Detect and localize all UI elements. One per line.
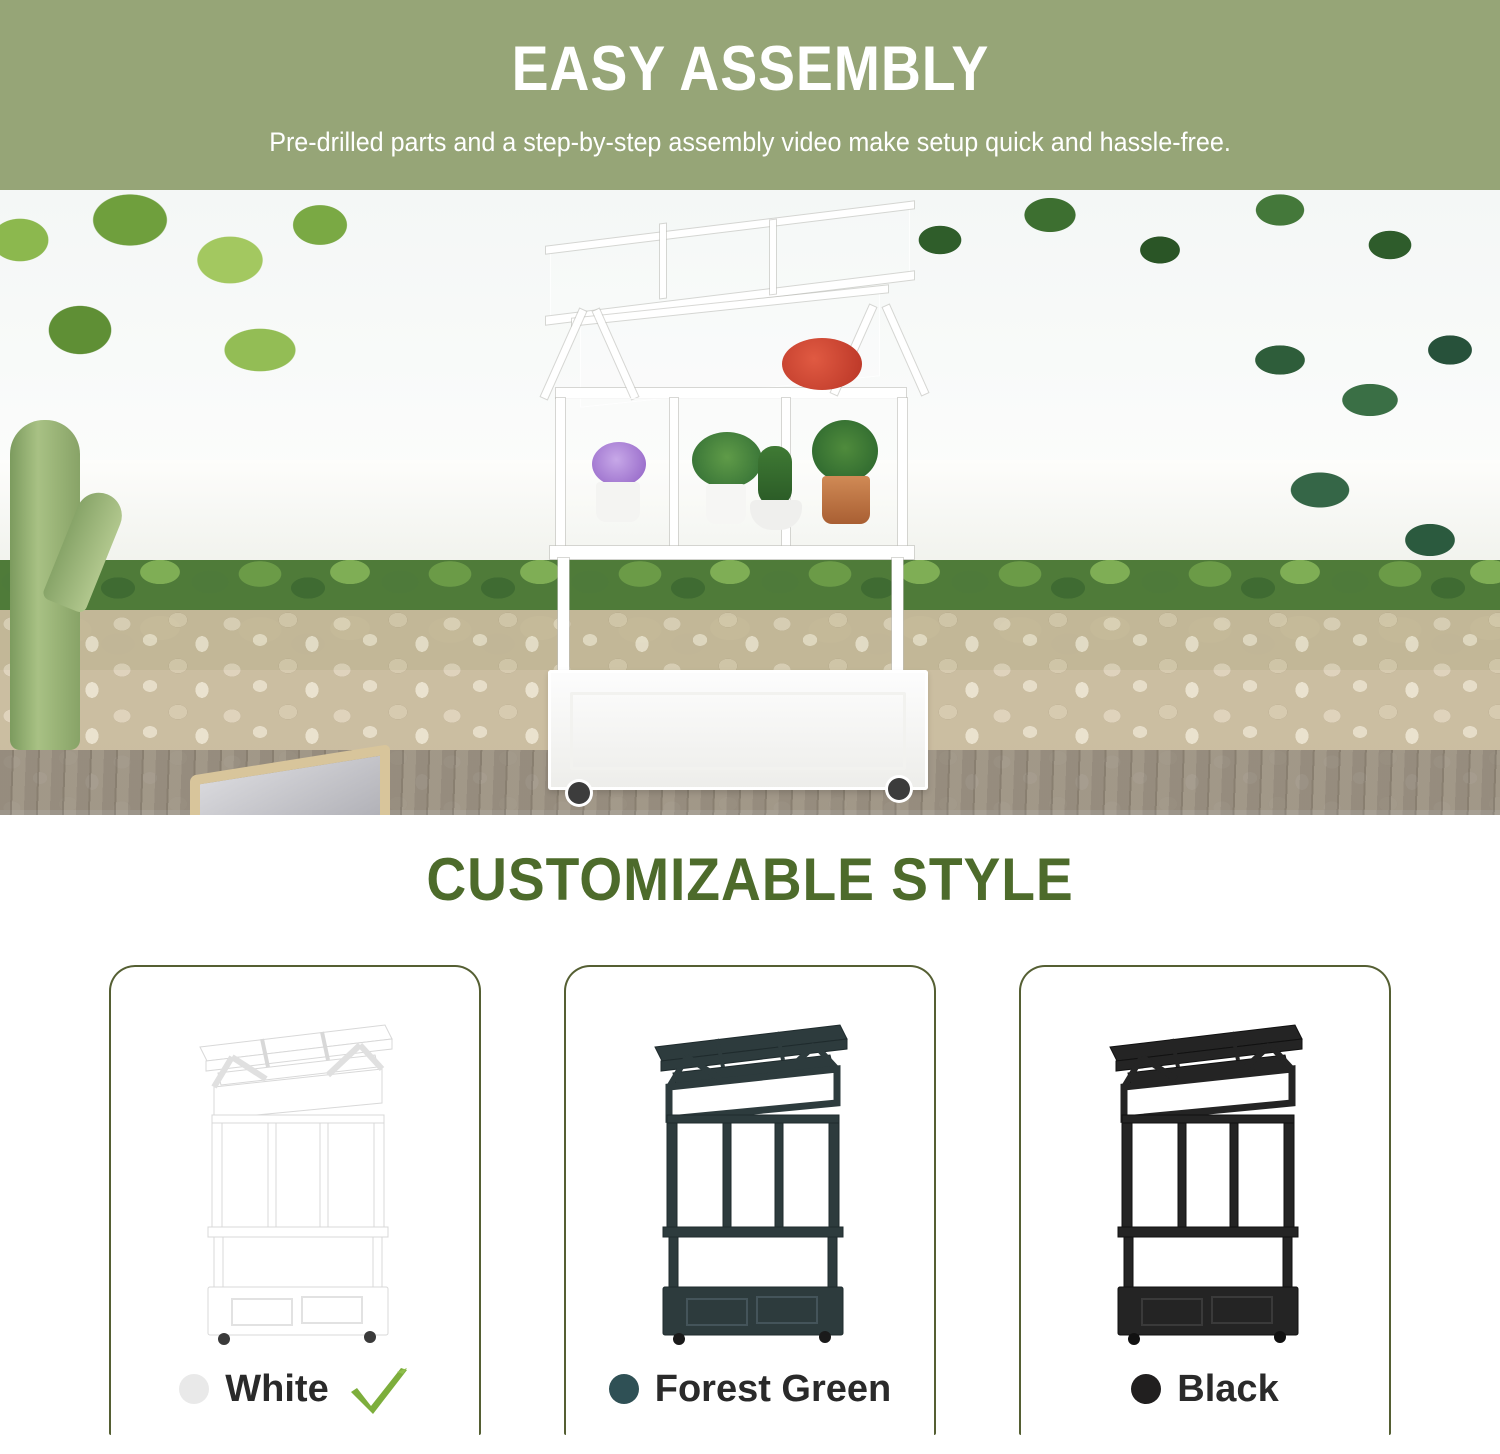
product-image-white bbox=[111, 967, 479, 1345]
storage-bin bbox=[548, 670, 928, 790]
copper-planter-row bbox=[960, 790, 1500, 815]
color-name-black: Black bbox=[1177, 1368, 1278, 1411]
greenhouse-mini-icon-black bbox=[1080, 995, 1330, 1345]
product-image-black bbox=[1021, 967, 1389, 1345]
color-option-card-white[interactable]: White bbox=[109, 965, 481, 1435]
section-title: CUSTOMIZABLE STYLE bbox=[60, 845, 1440, 914]
color-options-row: White bbox=[0, 965, 1500, 1445]
greenhouse-mini-icon-white bbox=[170, 995, 420, 1345]
color-label-row-white: White bbox=[111, 1343, 479, 1435]
color-swatch-white bbox=[179, 1374, 209, 1404]
color-option-card-forest-green[interactable]: Forest Green bbox=[564, 965, 936, 1435]
patio-lounge-chair bbox=[170, 760, 500, 815]
color-option-card-black[interactable]: Black bbox=[1019, 965, 1391, 1435]
header-subtitle: Pre-drilled parts and a step-by-step ass… bbox=[269, 127, 1231, 158]
greenhouse-cart-product bbox=[520, 210, 950, 815]
color-label-row-black: Black bbox=[1021, 1343, 1389, 1435]
page-title: EASY ASSEMBLY bbox=[511, 38, 989, 101]
selected-check-icon bbox=[345, 1362, 411, 1416]
color-name-forest-green: Forest Green bbox=[655, 1368, 892, 1411]
product-image-forest-green bbox=[566, 967, 934, 1345]
header-banner: EASY ASSEMBLY Pre-drilled parts and a st… bbox=[0, 0, 1500, 190]
color-label-row-forest-green: Forest Green bbox=[566, 1343, 934, 1435]
color-name-white: White bbox=[225, 1368, 328, 1411]
hero-lifestyle-photo bbox=[0, 190, 1500, 815]
greenhouse-mini-icon-forest-green bbox=[625, 995, 875, 1345]
color-swatch-forest-green bbox=[609, 1374, 639, 1404]
color-swatch-black bbox=[1131, 1374, 1161, 1404]
